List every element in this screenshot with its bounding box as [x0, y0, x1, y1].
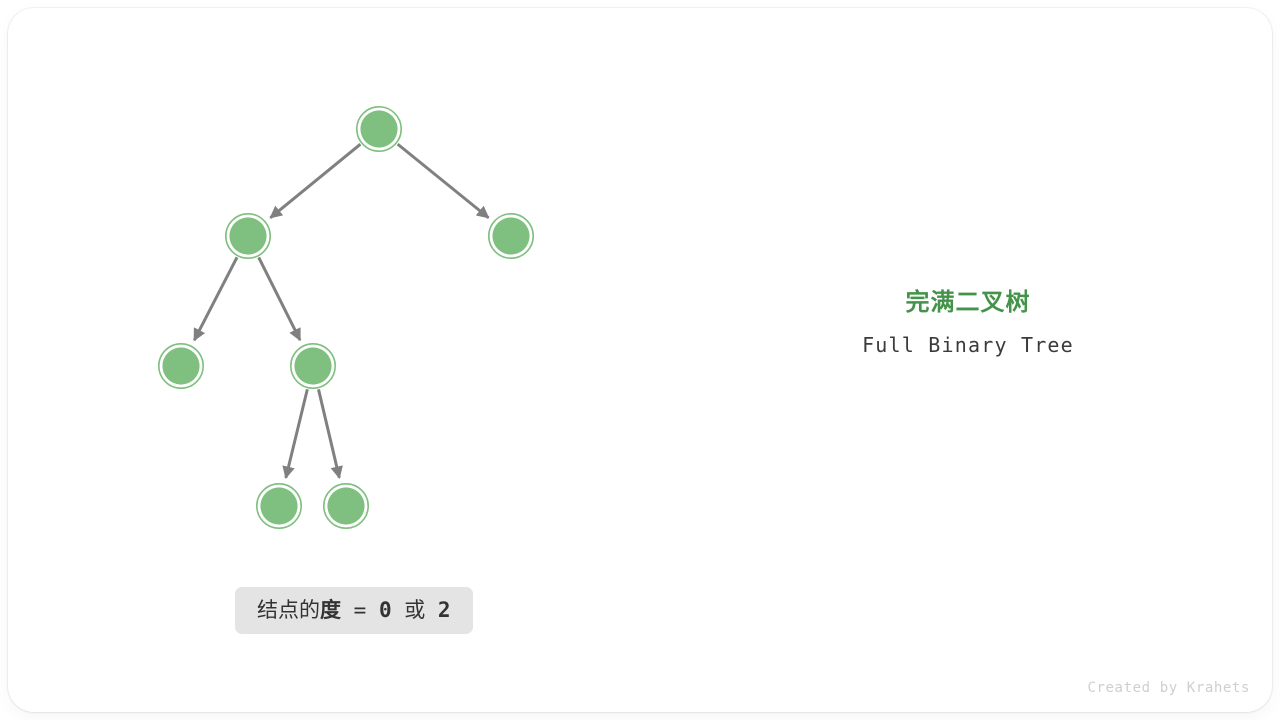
degree-badge: 结点的度 = 0 或 2: [235, 587, 473, 634]
degree-badge-value-zero: 0: [379, 587, 392, 634]
tree-node-fill: [229, 217, 266, 254]
tree-node-fill: [260, 487, 297, 524]
tree-node: [489, 214, 533, 258]
tree-node: [257, 484, 301, 528]
tree-node-fill: [492, 217, 529, 254]
figure-canvas: 完满二叉树 Full Binary Tree 结点的度 = 0 或 2 Crea…: [0, 0, 1280, 720]
tree-node: [159, 344, 203, 388]
tree-node-fill: [360, 110, 397, 147]
degree-badge-term: 度: [320, 587, 341, 634]
tree-node-fill: [327, 487, 364, 524]
credit-text: Created by Krahets: [1087, 680, 1250, 696]
degree-badge-equals: =: [341, 587, 379, 634]
caption-title: 完满二叉树: [768, 288, 1168, 318]
tree-node: [357, 107, 401, 151]
tree-node: [226, 214, 270, 258]
caption-subtitle: Full Binary Tree: [768, 332, 1168, 358]
degree-badge-or: 或: [392, 587, 438, 634]
degree-badge-value-two: 2: [438, 587, 451, 634]
tree-node: [324, 484, 368, 528]
tree-node-fill: [162, 347, 199, 384]
caption-block: 完满二叉树 Full Binary Tree: [768, 288, 1168, 358]
tree-node: [291, 344, 335, 388]
degree-badge-prefix: 结点的: [257, 587, 320, 634]
tree-node-fill: [294, 347, 331, 384]
